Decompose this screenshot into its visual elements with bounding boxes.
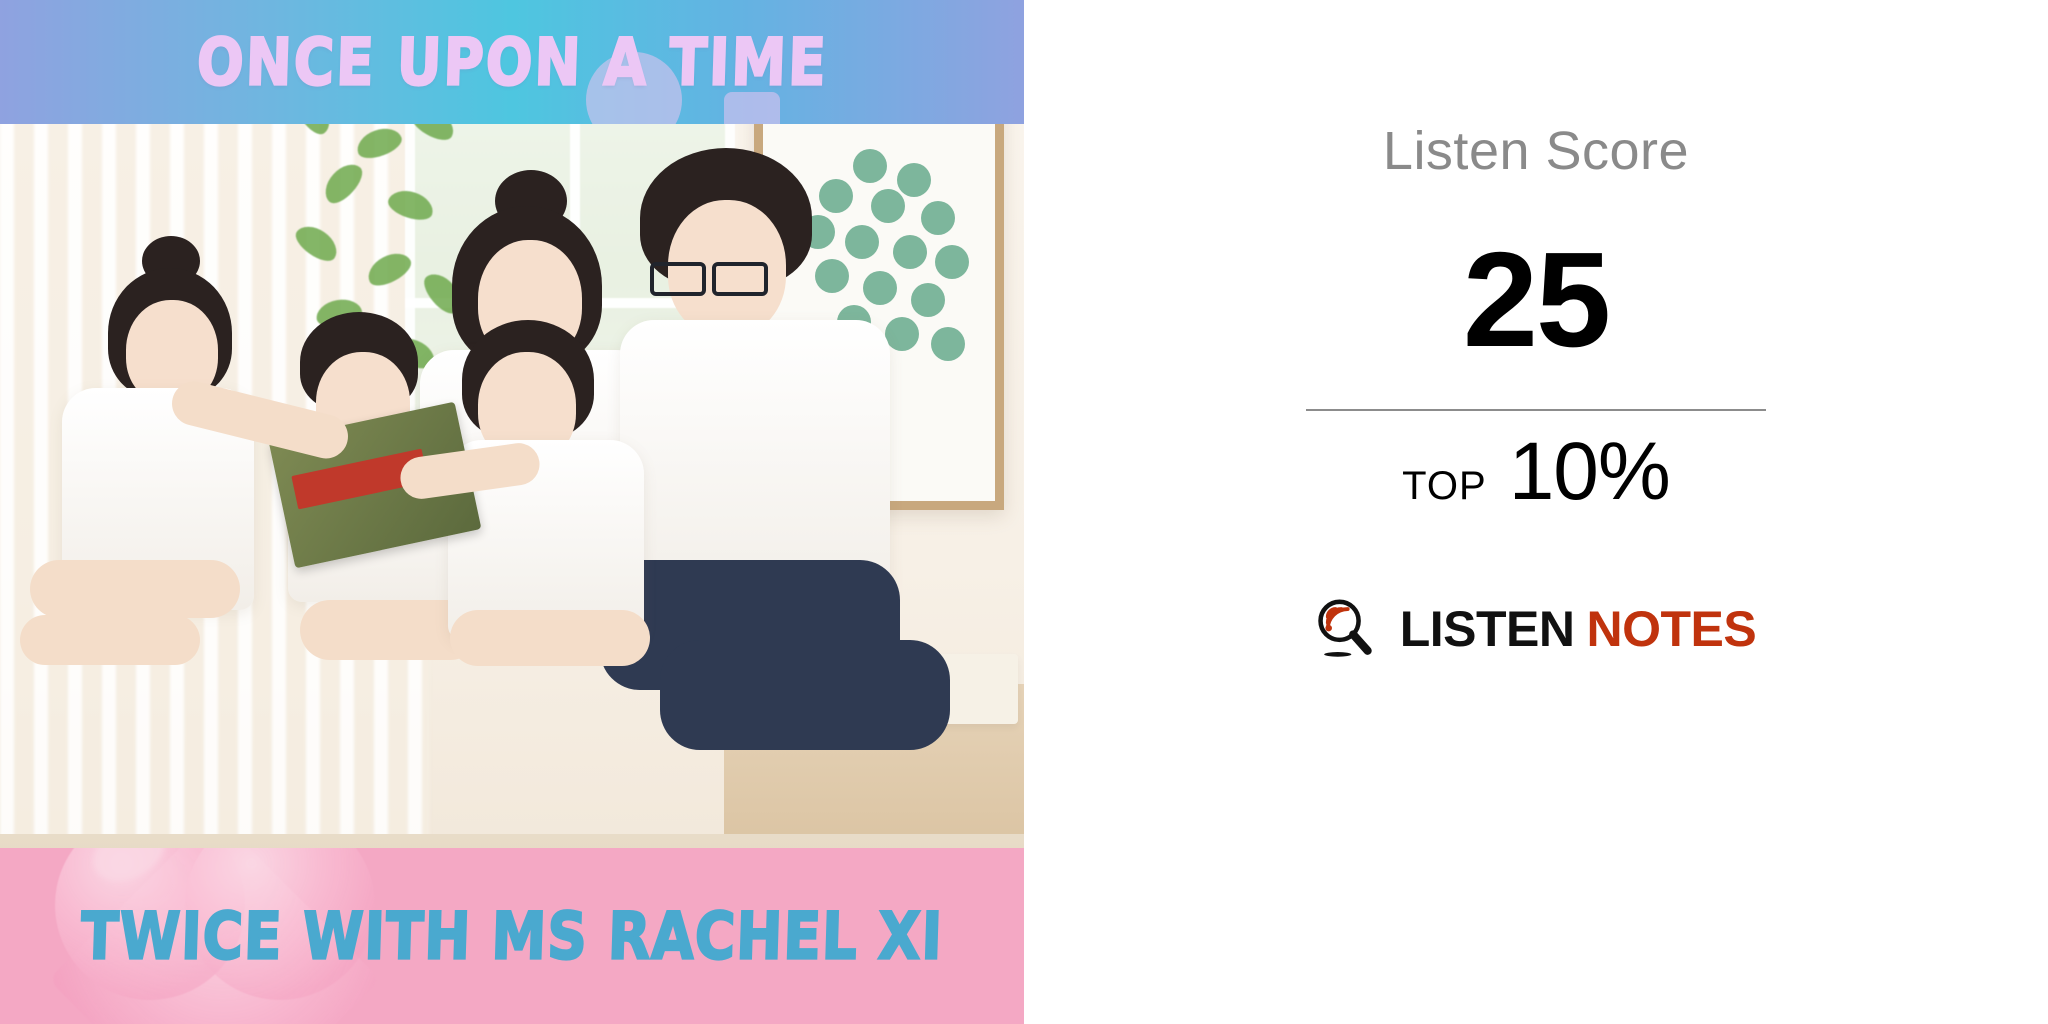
brand-word-notes: NOTES xyxy=(1587,601,1757,657)
cover-bottom-banner: TWICE WITH MS RACHEL XI xyxy=(0,848,1024,1024)
listen-notes-logo[interactable]: LISTENNOTES xyxy=(1024,598,2048,660)
podcast-cover-art[interactable]: ONCE UPON A TIME TWICE WITH MS RACHEL XI xyxy=(0,0,1024,1024)
rank-percentile-value: 10% xyxy=(1509,425,1670,519)
listen-score-panel: Listen Score 25 TOP 10% LISTENNOTES xyxy=(1024,0,2048,1024)
listen-score-label: Listen Score xyxy=(1024,120,2048,182)
magnifier-rss-icon xyxy=(1316,598,1374,660)
score-divider xyxy=(1306,409,1766,411)
brand-wordmark: LISTENNOTES xyxy=(1400,604,1757,654)
podcast-score-card: ONCE UPON A TIME TWICE WITH MS RACHEL XI… xyxy=(0,0,2048,1024)
brand-word-listen: LISTEN xyxy=(1400,601,1575,657)
listen-score-value: 25 xyxy=(1024,232,2048,367)
rank-row: TOP 10% xyxy=(1024,425,2048,519)
rank-prefix-label: TOP xyxy=(1402,464,1487,509)
cover-top-banner: ONCE UPON A TIME xyxy=(0,0,1024,124)
cover-title: ONCE UPON A TIME xyxy=(195,24,828,100)
cover-subtitle: TWICE WITH MS RACHEL XI xyxy=(80,898,944,974)
